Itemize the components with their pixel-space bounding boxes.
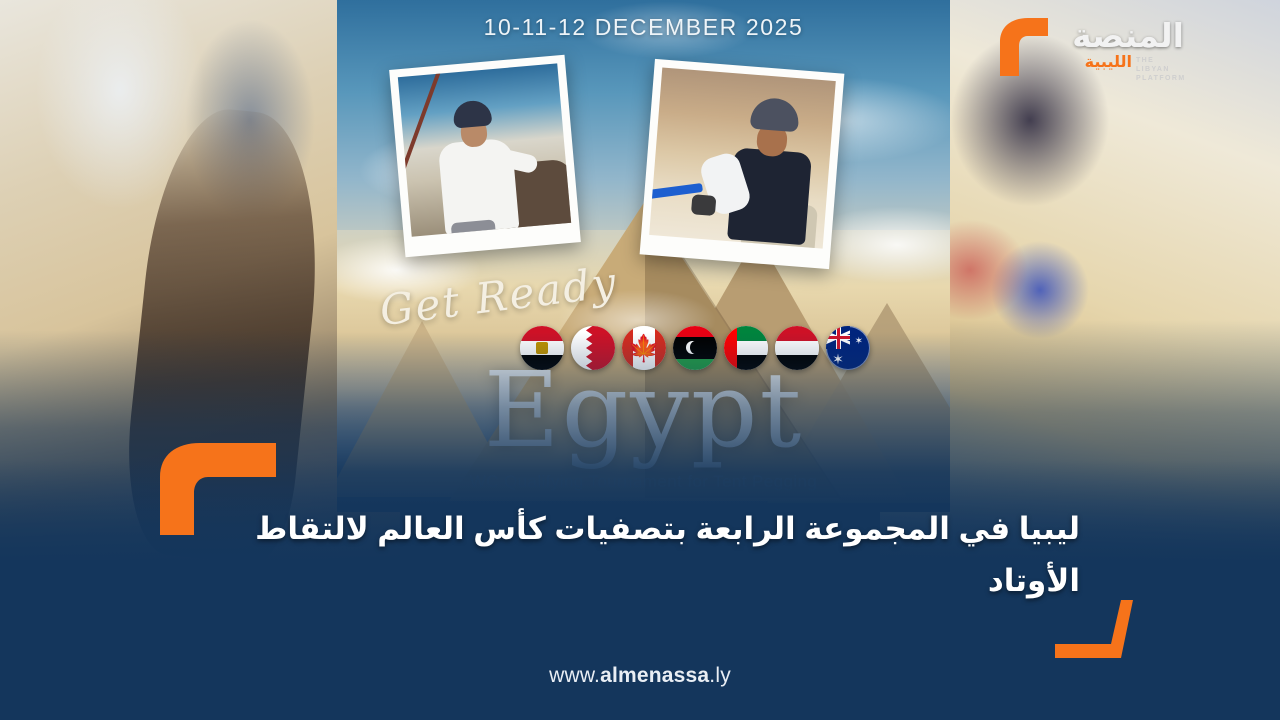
site-logo[interactable]: المنصة الليبية THE LIBYAN PLATFORM <box>1044 14 1184 88</box>
url-prefix: www. <box>549 664 600 687</box>
helmet-icon <box>452 99 492 128</box>
helmet-icon <box>750 97 800 133</box>
rider-photo-right <box>640 59 845 269</box>
rider-photo-right-image <box>649 67 836 248</box>
rider-leg-shape <box>451 219 498 236</box>
logo-arabic-subtitle: الليبية <box>1085 52 1132 72</box>
site-url[interactable]: www.almenassa.ly <box>0 664 1280 688</box>
event-poster: 10-11-12 DECEMBER 2025 <box>337 0 950 512</box>
egypt-wordmark: Egypt <box>337 358 950 462</box>
logo-mark-icon <box>992 16 1052 78</box>
rider-photo-left-image <box>398 63 571 236</box>
lance-shape <box>398 63 445 236</box>
rider-photo-left <box>389 55 581 258</box>
url-name: almenassa <box>600 664 709 687</box>
news-headline: ليبيا في المجموعة الرابعة بتصفيات كأس ال… <box>200 503 1080 607</box>
news-card: 10-11-12 DECEMBER 2025 <box>0 0 1280 720</box>
url-suffix: .ly <box>709 664 731 687</box>
orange-bracket-bottom-right <box>1055 600 1133 658</box>
logo-arabic-name: المنصة <box>1072 16 1184 55</box>
rider-glove-shape <box>691 194 716 216</box>
logo-english-line1: THE LIBYAN <box>1136 56 1186 74</box>
tournament-subtitle: WC Qualifying Tournament for Tent Peggin… <box>337 472 950 492</box>
logo-english-line2: PLATFORM <box>1136 74 1186 83</box>
event-date: 10-11-12 DECEMBER 2025 <box>337 14 950 41</box>
logo-english-name: THE LIBYAN PLATFORM <box>1136 56 1186 83</box>
